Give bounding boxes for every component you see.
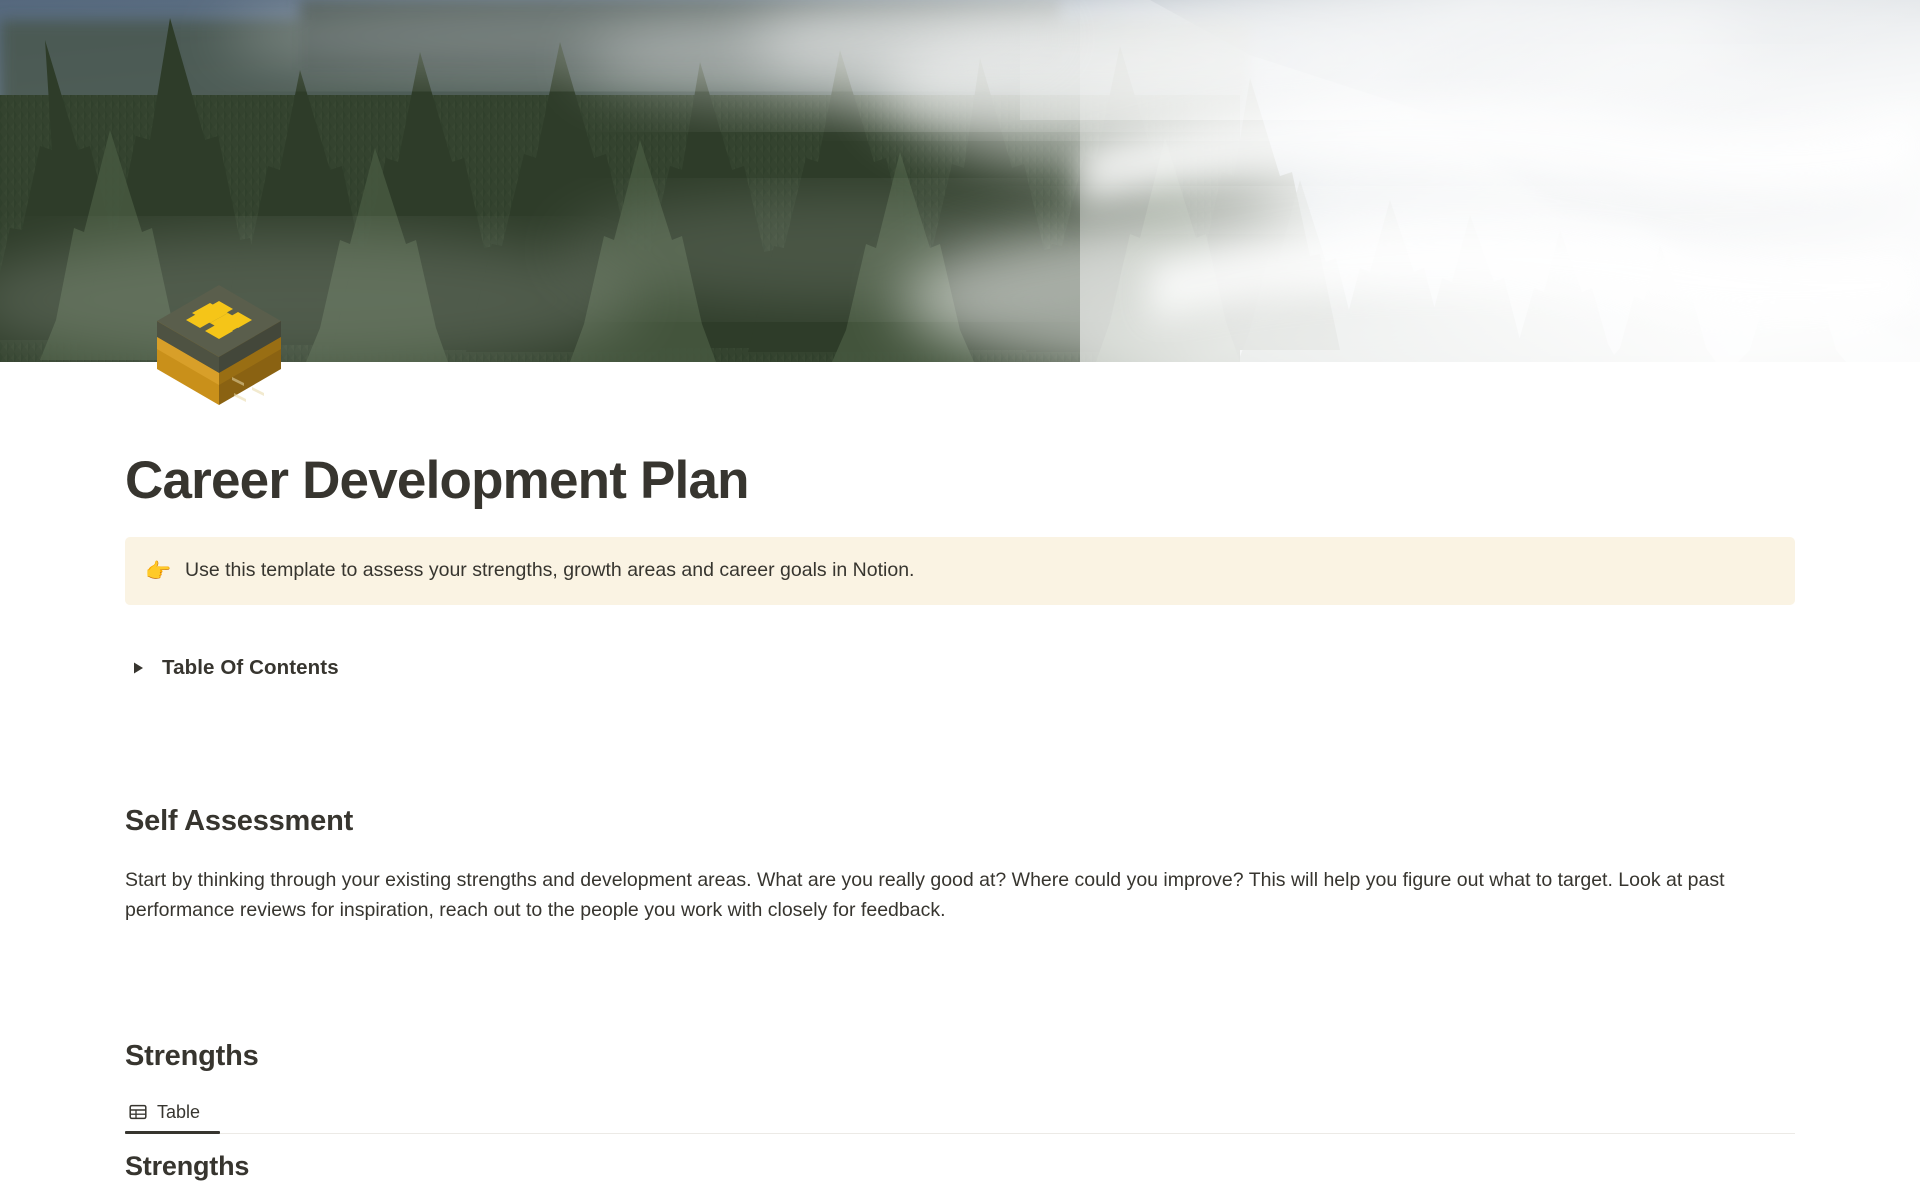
callout-block[interactable]: 👉 Use this template to assess your stren…	[125, 537, 1795, 605]
tabs-divider	[125, 1133, 1795, 1134]
self-assessment-paragraph[interactable]: Start by thinking through your existing …	[125, 866, 1800, 925]
pointing-right-hand-icon: 👉	[145, 561, 171, 582]
page-title[interactable]: Career Development Plan	[125, 452, 749, 510]
database-view-tabs: Table	[125, 1095, 1795, 1137]
triangle-right-glyph	[133, 662, 144, 674]
tab-table[interactable]: Table	[125, 1095, 209, 1129]
tab-active-indicator	[125, 1131, 220, 1134]
triangle-right-icon[interactable]	[125, 655, 151, 681]
toggle-label: Table Of Contents	[162, 656, 339, 680]
isometric-cube-icon	[148, 273, 290, 415]
callout-text: Use this template to assess your strengt…	[185, 556, 914, 585]
database-title[interactable]: Strengths	[125, 1151, 249, 1182]
heading-strengths[interactable]: Strengths	[125, 1040, 259, 1073]
table-grid-icon	[128, 1102, 148, 1122]
heading-self-assessment[interactable]: Self Assessment	[125, 805, 353, 838]
toggle-table-of-contents[interactable]: Table Of Contents	[125, 655, 339, 681]
notion-page: Career Development Plan 👉 Use this templ…	[0, 0, 1920, 1199]
page-icon[interactable]	[148, 273, 290, 415]
tab-table-label: Table	[157, 1102, 200, 1123]
